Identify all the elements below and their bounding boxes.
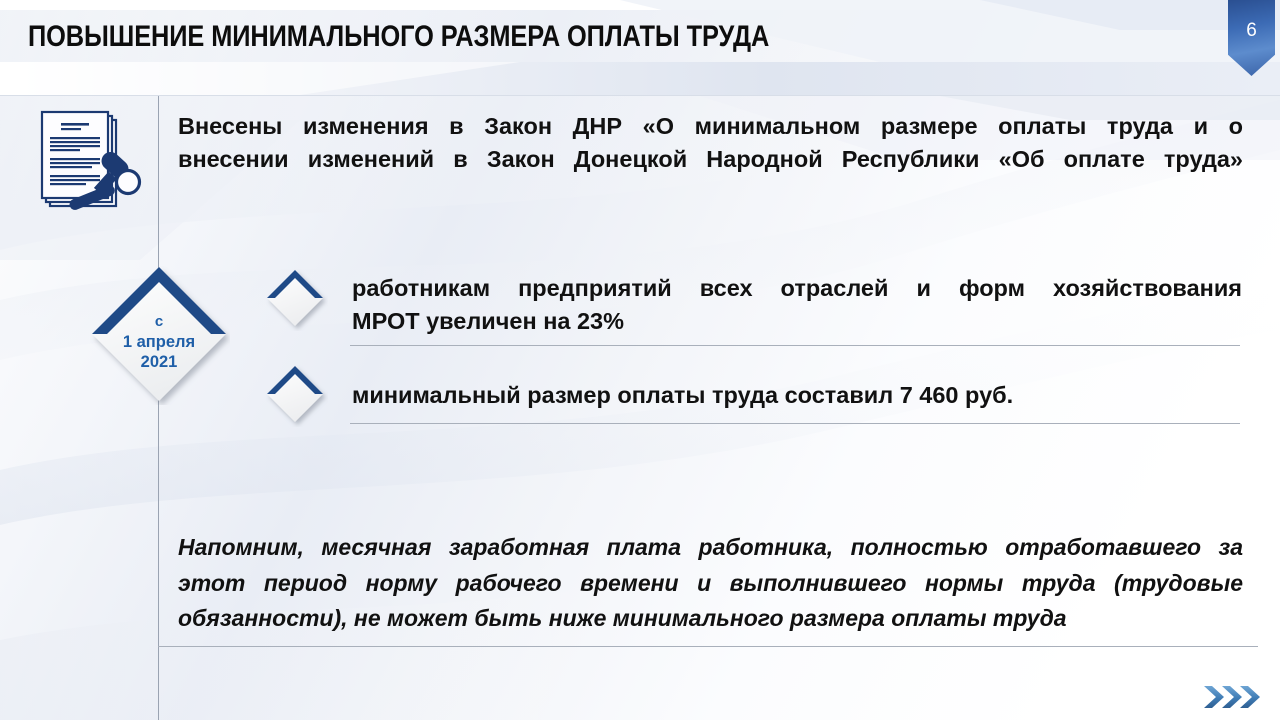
bullet-1-line-1: работникам предприятий всех отраслей и ф… (352, 272, 1242, 305)
horizontal-rule-2 (350, 423, 1240, 424)
page-number-label: 6 (1246, 20, 1257, 42)
bullet-1-line-2: МРОТ увеличен на 23% (352, 305, 1242, 338)
note-line-2: этот период норму рабочего времени и вып… (178, 566, 1243, 602)
bullet-item-2: минимальный размер оплаты труда составил… (352, 379, 1242, 412)
date-diamond-text: с 1 апреля 2021 (88, 263, 230, 405)
date-line-1: с (155, 313, 163, 332)
bullet-diamond-marker-1 (264, 267, 328, 331)
note-line-3: обязанности), не может быть ниже минимал… (178, 601, 1243, 637)
lead-line-1: Внесены изменения в Закон ДНР «О минимал… (178, 110, 1243, 143)
double-chevron-right-icon (1202, 683, 1264, 711)
horizontal-rule-1 (350, 345, 1240, 346)
date-line-2: 1 апреля (123, 332, 195, 353)
slide-root: ПОВЫШЕНИЕ МИНИМАЛЬНОГО РАЗМЕРА ОПЛАТЫ ТР… (0, 0, 1280, 720)
horizontal-rule-3 (158, 646, 1258, 647)
document-gavel-icon (28, 106, 160, 224)
lead-paragraph: Внесены изменения в Закон ДНР «О минимал… (178, 110, 1243, 177)
bullet-2-line-1: минимальный размер оплаты труда составил… (352, 379, 1242, 412)
note-line-1: Напомним, месячная заработная плата рабо… (178, 530, 1243, 566)
bullet-diamond-marker-2 (264, 363, 328, 427)
lead-line-2: внесении изменений в Закон Донецкой Наро… (178, 143, 1243, 176)
page-title: ПОВЫШЕНИЕ МИНИМАЛЬНОГО РАЗМЕРА ОПЛАТЫ ТР… (28, 21, 1017, 53)
note-paragraph: Напомним, месячная заработная плата рабо… (178, 530, 1243, 637)
date-line-3: 2021 (141, 352, 178, 373)
date-diamond-badge: с 1 апреля 2021 (88, 263, 230, 405)
bullet-item-1: работникам предприятий всех отраслей и ф… (352, 272, 1242, 339)
